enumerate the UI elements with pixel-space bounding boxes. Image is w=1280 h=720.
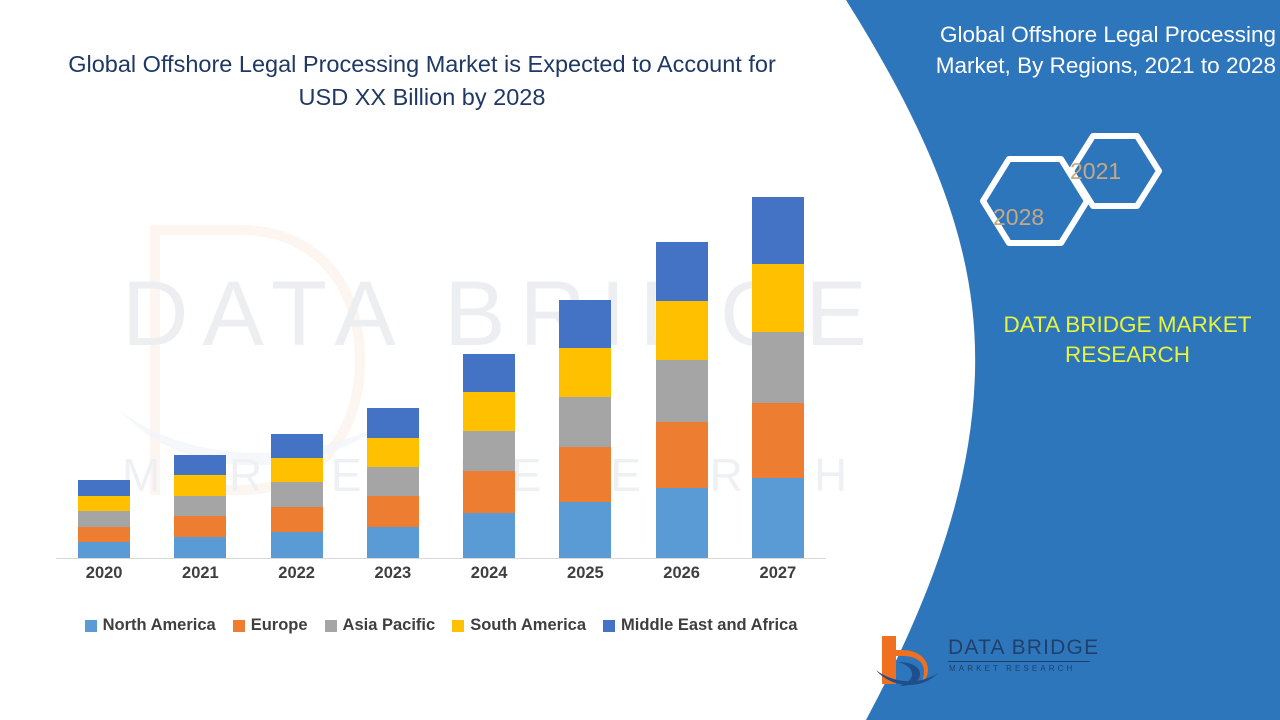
legend-item-south-america[interactable]: South America xyxy=(452,616,586,635)
bar-segment xyxy=(463,513,515,558)
x-axis-labels: 20202021202220232024202520262027 xyxy=(56,564,826,594)
bar-2023 xyxy=(367,408,419,558)
chart-plot-area xyxy=(56,150,826,558)
x-axis-label-2023: 2023 xyxy=(348,564,438,583)
bar-segment xyxy=(78,511,130,527)
bar-segment xyxy=(656,301,708,360)
bar-segment xyxy=(271,507,323,532)
panel-title: Global Offshore Legal Processing Market,… xyxy=(898,20,1276,81)
chart-legend: North AmericaEuropeAsia PacificSouth Ame… xyxy=(46,616,836,635)
bar-segment xyxy=(463,392,515,431)
brand-name: DATA BRIDGE MARKET RESEARCH xyxy=(985,310,1270,370)
legend-label: North America xyxy=(103,616,216,635)
bar-2020 xyxy=(78,480,130,558)
bar-2026 xyxy=(656,242,708,558)
bar-segment xyxy=(559,397,611,448)
bar-segment xyxy=(656,242,708,300)
legend-swatch-icon xyxy=(452,620,464,632)
bar-segment xyxy=(174,475,226,495)
bar-segment xyxy=(656,360,708,422)
legend-label: Europe xyxy=(251,616,308,635)
legend-swatch-icon xyxy=(85,620,97,632)
bar-segment xyxy=(463,431,515,471)
bar-segment xyxy=(559,447,611,501)
bar-segment xyxy=(463,354,515,392)
bar-segment xyxy=(271,434,323,458)
bar-segment xyxy=(656,488,708,558)
logo-tagline: MARKET RESEARCH xyxy=(949,664,1075,673)
legend-item-middle-east-and-africa[interactable]: Middle East and Africa xyxy=(603,616,797,635)
bar-2027 xyxy=(752,197,804,558)
bar-2025 xyxy=(559,300,611,558)
company-logo: DATA BRIDGE MARKET RESEARCH xyxy=(872,632,1102,694)
bar-2022 xyxy=(271,434,323,558)
x-axis-label-2022: 2022 xyxy=(252,564,342,583)
bar-segment xyxy=(559,300,611,349)
hexagon-label-2021: 2021 xyxy=(1070,158,1121,185)
data-bridge-mark-icon xyxy=(872,632,942,692)
bar-segment xyxy=(559,348,611,397)
bar-segment xyxy=(174,537,226,558)
bar-segment xyxy=(656,422,708,488)
page-title: Global Offshore Legal Processing Market … xyxy=(42,48,802,115)
bar-2021 xyxy=(174,455,226,558)
bar-segment xyxy=(78,480,130,496)
bar-segment xyxy=(463,471,515,514)
bar-segment xyxy=(271,458,323,482)
legend-swatch-icon xyxy=(603,620,615,632)
x-axis-label-2021: 2021 xyxy=(155,564,245,583)
legend-label: South America xyxy=(470,616,586,635)
legend-item-europe[interactable]: Europe xyxy=(233,616,308,635)
bar-segment xyxy=(367,496,419,527)
bar-segment xyxy=(78,496,130,512)
bar-segment xyxy=(752,403,804,479)
hexagon-label-2028: 2028 xyxy=(993,204,1044,231)
left-chart-pane: DATA BRIDGE MARKET RESEARCH Global Offsh… xyxy=(0,0,850,720)
logo-divider xyxy=(948,661,1090,662)
bar-segment xyxy=(271,482,323,506)
x-axis-label-2026: 2026 xyxy=(637,564,727,583)
legend-label: Asia Pacific xyxy=(343,616,436,635)
bar-segment xyxy=(752,197,804,264)
logo-name: DATA BRIDGE xyxy=(948,636,1099,660)
legend-item-asia-pacific[interactable]: Asia Pacific xyxy=(325,616,436,635)
bar-2024 xyxy=(463,354,515,558)
bar-segment xyxy=(271,532,323,558)
x-axis-label-2025: 2025 xyxy=(540,564,630,583)
bar-segment xyxy=(174,516,226,536)
x-axis-label-2024: 2024 xyxy=(444,564,534,583)
bar-segment xyxy=(174,496,226,516)
legend-swatch-icon xyxy=(325,620,337,632)
x-axis-label-2027: 2027 xyxy=(733,564,823,583)
x-axis-label-2020: 2020 xyxy=(59,564,149,583)
legend-label: Middle East and Africa xyxy=(621,616,797,635)
bar-segment xyxy=(174,455,226,475)
x-axis-line xyxy=(56,558,826,559)
bar-segment xyxy=(752,478,804,558)
bar-segment xyxy=(367,527,419,558)
legend-swatch-icon xyxy=(233,620,245,632)
bar-segment xyxy=(559,502,611,558)
infographic-root: DATA BRIDGE MARKET RESEARCH Global Offsh… xyxy=(0,0,1280,720)
bar-segment xyxy=(367,408,419,437)
bar-segment xyxy=(367,467,419,496)
bar-segment xyxy=(752,264,804,332)
bar-segment xyxy=(367,438,419,467)
bar-segment xyxy=(752,332,804,403)
bar-segment xyxy=(78,542,130,558)
legend-item-north-america[interactable]: North America xyxy=(85,616,216,635)
hexagon-badges: 2021 2028 xyxy=(975,118,1190,293)
bar-segment xyxy=(78,527,130,543)
stacked-bar-chart: 20202021202220232024202520262027 xyxy=(46,150,836,570)
